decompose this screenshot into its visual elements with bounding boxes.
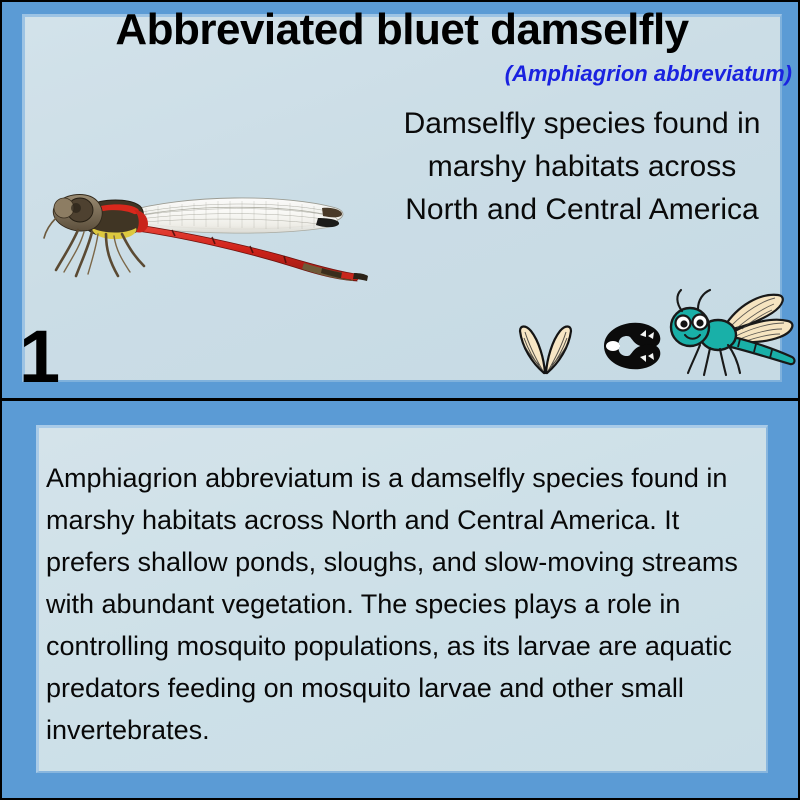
page-title: Abbreviated bluet damselfly [2,4,800,56]
damselfly-photo [36,160,376,285]
dragonfly-icon [662,287,798,381]
description-text: Amphiagrion abbreviatum is a damselfly s… [46,457,746,751]
card-number-badge: 1 [19,320,60,394]
panel-divider [2,398,800,401]
scientific-name: (Amphiagrion abbreviatum) [2,60,792,88]
mandibles-icon [594,319,664,373]
bottom-panel: Amphiagrion abbreviatum is a damselfly s… [2,401,800,800]
species-fact-card: Abbreviated bluet damselfly (Amphiagrion… [0,0,800,800]
species-summary: Damselfly species found in marshy habita… [398,102,766,231]
wings-icon [510,315,582,377]
top-panel: Abbreviated bluet damselfly (Amphiagrion… [2,2,800,398]
